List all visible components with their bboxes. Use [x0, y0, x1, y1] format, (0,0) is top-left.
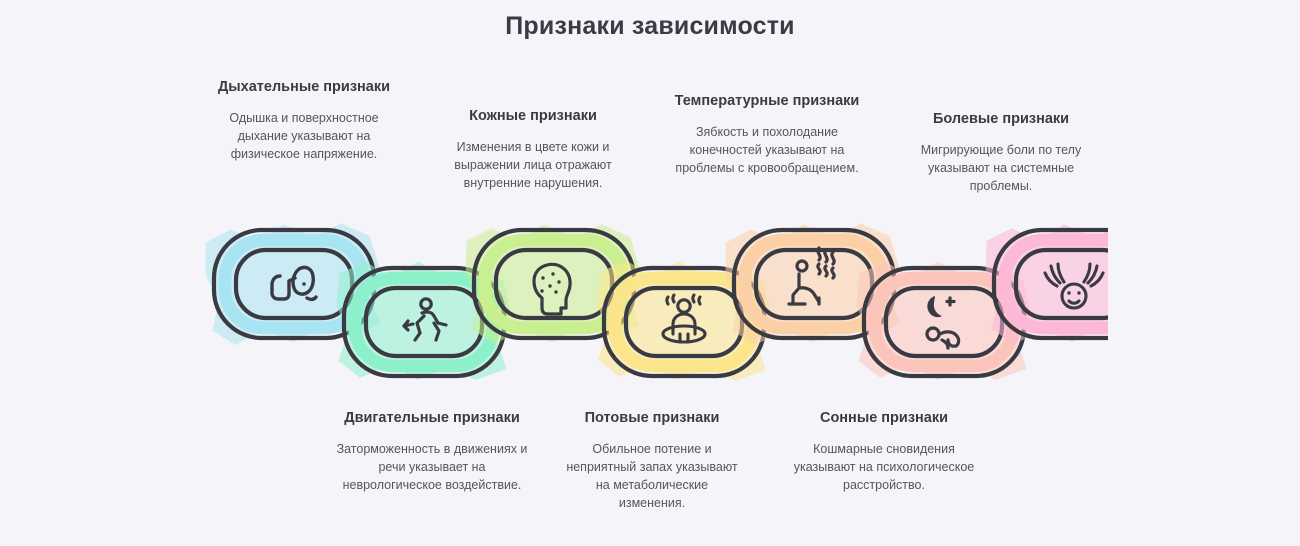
text-block-sleep: Сонные признаки Кошмарные сновидения ука… [788, 409, 980, 495]
text-block-temperature: Температурные признаки Зябкость и похоло… [668, 92, 866, 178]
chain-illustration [198, 212, 1108, 394]
text-block-skin: Кожные признаки Изменения в цвете кожи и… [440, 107, 626, 193]
text-block-pain: Болевые признаки Мигрирующие боли по тел… [905, 110, 1097, 196]
block-heading: Температурные признаки [668, 92, 866, 111]
chain-link-pain[interactable] [984, 221, 1108, 345]
block-heading: Дыхательные признаки [214, 78, 394, 97]
text-block-sweat: Потовые признаки Обильное потение и непр… [563, 409, 741, 512]
text-block-breathing: Дыхательные признаки Одышка и поверхност… [214, 78, 394, 164]
chain-svg [198, 212, 1108, 394]
block-body: Мигрирующие боли по телу указывают на си… [905, 142, 1097, 195]
infographic-page: Признаки зависимости Дыхательные признак… [0, 0, 1300, 546]
block-heading: Кожные признаки [440, 107, 626, 126]
page-title: Признаки зависимости [0, 12, 1300, 41]
block-heading: Потовые признаки [563, 409, 741, 428]
block-body: Заторможенность в движениях и речи указы… [334, 441, 530, 494]
block-body: Кошмарные сновидения указывают на психол… [788, 441, 980, 494]
text-block-motor: Двигательные признаки Заторможенность в … [334, 409, 530, 495]
block-body: Зябкость и похолодание конечностей указы… [668, 124, 866, 177]
block-body: Изменения в цвете кожи и выражении лица … [440, 139, 626, 192]
block-body: Одышка и поверхностное дыхание указывают… [214, 110, 394, 163]
block-heading: Болевые признаки [905, 110, 1097, 129]
block-body: Обильное потение и неприятный запах указ… [563, 441, 741, 512]
block-heading: Сонные признаки [788, 409, 980, 428]
block-heading: Двигательные признаки [334, 409, 530, 428]
